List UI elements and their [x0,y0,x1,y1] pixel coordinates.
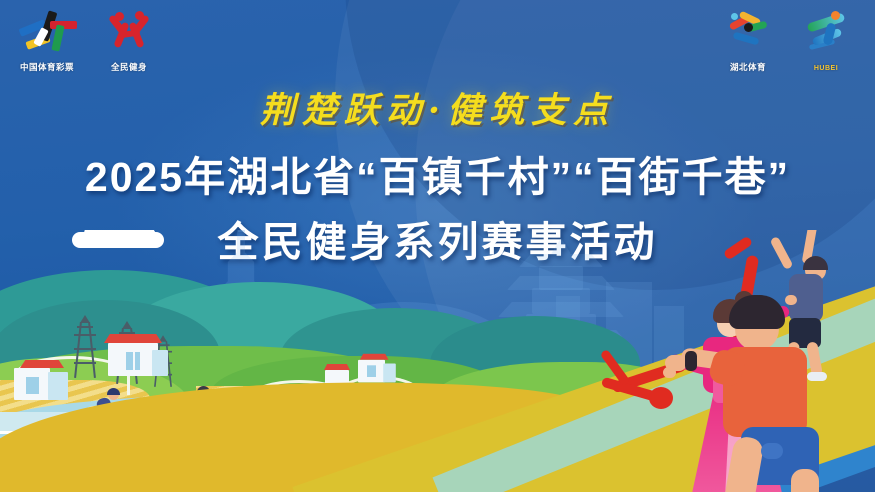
power-pylon-1 [74,322,96,378]
foreground-athlete [705,291,855,492]
dance-ribbon-knot [649,387,673,409]
poster-tagline: 荆楚跃动·健筑支点 [0,82,875,133]
illustration-scene [0,230,875,492]
fg-hair [729,295,785,329]
fg-wristband [685,351,697,371]
fg-hand [665,355,687,371]
fg-leg-right [791,469,819,492]
sponsor-logos-left: 中国体育彩票 全民健身 [14,8,162,70]
hubei-sports-caption: 湖北体育 [715,63,781,72]
hubei-brand-caption: HUBEI [793,65,859,72]
event-poster: 中国体育彩票 全民健身 湖北体育 HUBEI 荆楚跃动·健筑支点 2025年湖北… [0,0,875,492]
hubei-sports-logo: 湖北体育 [715,8,781,70]
village-house-3 [358,354,394,383]
village-house-2 [14,360,68,400]
page-title-line-1: 2025年湖北省“百镇千村”“百街千巷” [0,143,875,203]
lottery-pinwheel-icon [14,8,80,52]
sponsor-logos-right: 湖北体育 HUBEI [715,8,859,70]
cloud [72,232,164,248]
china-sports-lottery-logo: 中国体育彩票 [14,8,80,70]
fg-knee [761,443,783,459]
lottery-logo-caption: 中国体育彩票 [14,63,80,72]
hubei-brand-logo: HUBEI [793,8,859,70]
hubei-swoosh-figure-icon [793,8,859,52]
hubei-sports-figure-icon [715,8,781,52]
fitness-figures-icon [96,8,162,52]
village-house-1 [104,334,162,376]
national-fitness-logo: 全民健身 [96,8,162,70]
fitness-logo-caption: 全民健身 [96,63,162,72]
